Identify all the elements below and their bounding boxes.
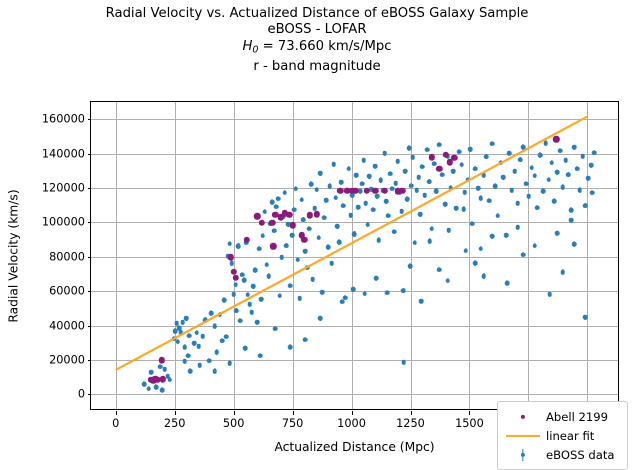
legend-key-dot-icon: [504, 409, 542, 425]
y-tick-label: 60000: [49, 285, 85, 298]
x-tick: [469, 411, 470, 415]
legend-item-abell-2199[interactable]: Abell 2199: [504, 407, 619, 426]
y-tick-label: 40000: [49, 319, 85, 332]
x-tick-label: 1000: [337, 417, 366, 430]
plot-axes: 0250500750100012501500175020000200004000…: [90, 101, 619, 410]
y-tick: [88, 154, 92, 155]
hubble-value-text: = 73.660 km/s/Mpc: [258, 39, 391, 54]
x-tick-label: 1500: [455, 417, 484, 430]
legend-item-eboss-data[interactable]: eBOSS data: [504, 445, 619, 464]
y-axis-label: Radial Velocity (km/s): [5, 101, 23, 410]
y-tick-label: 100000: [42, 216, 85, 229]
chart-title: Radial Velocity vs. Actualized Distance …: [0, 6, 634, 75]
y-tick: [88, 326, 92, 327]
x-tick: [411, 411, 412, 415]
x-tick-label: 1250: [396, 417, 425, 430]
legend-label-eboss-data: eBOSS data: [542, 448, 615, 462]
x-tick: [175, 411, 176, 415]
hubble-symbol: H: [243, 39, 253, 54]
y-tick-label: 160000: [42, 113, 85, 126]
y-tick: [88, 119, 92, 120]
legend-key-line-icon: [504, 428, 542, 444]
x-tick: [352, 411, 353, 415]
x-tick-label: 750: [282, 417, 304, 430]
y-tick: [88, 360, 92, 361]
title-line-1: Radial Velocity vs. Actualized Distance …: [0, 6, 634, 22]
legend-item-linear-fit[interactable]: linear fit: [504, 426, 619, 445]
y-tick-label: 120000: [42, 181, 85, 194]
y-tick: [88, 394, 92, 395]
x-tick-label: 0: [112, 417, 119, 430]
x-tick-label: 500: [223, 417, 245, 430]
y-tick: [88, 222, 92, 223]
y-axis-label-text: Radial Velocity (km/s): [7, 189, 21, 322]
title-line-hubble-constant: H0 = 73.660 km/s/Mpc: [0, 39, 634, 59]
title-line-4: r - band magnitude: [0, 59, 634, 75]
y-tick-label: 80000: [49, 250, 85, 263]
y-tick: [88, 291, 92, 292]
y-tick-label: 0: [78, 388, 85, 401]
y-tick-label: 140000: [42, 147, 85, 160]
linear-fit-line: [91, 102, 618, 409]
x-tick: [234, 411, 235, 415]
legend-label-abell-2199: Abell 2199: [542, 410, 608, 424]
figure-canvas: Radial Velocity vs. Actualized Distance …: [0, 0, 634, 470]
chart-legend[interactable]: Abell 2199 linear fit eBOSS data: [497, 401, 628, 470]
y-tick-label: 20000: [49, 353, 85, 366]
title-line-2: eBOSS - LOFAR: [0, 22, 634, 38]
legend-key-errorbar-icon: [504, 447, 542, 463]
plot-area: [91, 102, 618, 409]
legend-label-linear-fit: linear fit: [542, 429, 594, 443]
y-tick: [88, 257, 92, 258]
y-tick: [88, 188, 92, 189]
x-tick: [293, 411, 294, 415]
x-tick: [116, 411, 117, 415]
x-tick-label: 250: [164, 417, 186, 430]
